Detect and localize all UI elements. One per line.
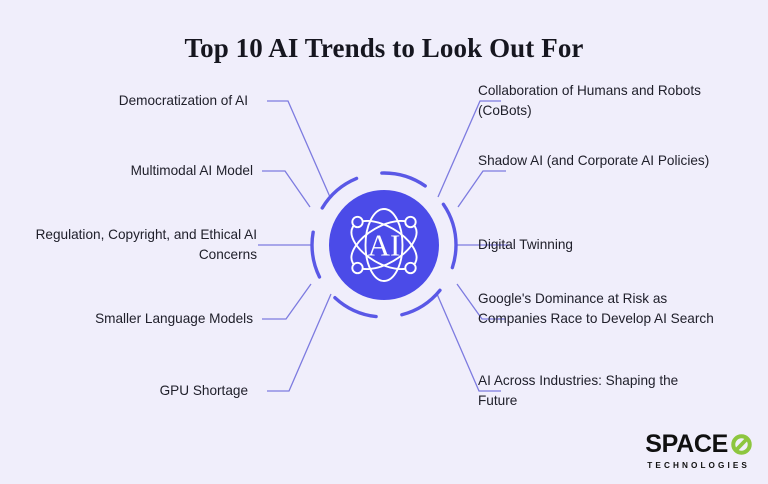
trend-label-left-2: Multimodal AI Model bbox=[23, 161, 253, 181]
logo-subtitle: TECHNOLOGIES bbox=[645, 461, 752, 470]
connector-left-2 bbox=[262, 171, 310, 207]
infographic-canvas: Top 10 AI Trends to Look Out For bbox=[0, 0, 768, 484]
trend-label-left-5: GPU Shortage bbox=[18, 381, 248, 401]
ai-atom-icon: AI bbox=[304, 165, 464, 325]
logo-word: SPACE bbox=[645, 432, 728, 457]
brand-logo: SPACE TECHNOLOGIES bbox=[645, 432, 752, 470]
trend-label-right-4: Google's Dominance at Risk as Companies … bbox=[478, 289, 730, 329]
trend-label-right-2: Shadow AI (and Corporate AI Policies) bbox=[478, 151, 718, 171]
connector-right-2 bbox=[458, 171, 506, 207]
trend-label-right-3: Digital Twinning bbox=[478, 235, 718, 255]
trend-label-left-1: Democratization of AI bbox=[18, 91, 248, 111]
trend-label-right-1: Collaboration of Humans and Robots (CoBo… bbox=[478, 81, 718, 121]
slashed-circle-icon bbox=[731, 434, 752, 455]
hub-label: AI bbox=[368, 228, 401, 263]
trend-label-left-3: Regulation, Copyright, and Ethical AI Co… bbox=[27, 225, 257, 265]
trend-label-right-5: AI Across Industries: Shaping the Future bbox=[478, 371, 718, 411]
logo-wordmark: SPACE bbox=[645, 432, 752, 457]
trend-label-left-4: Smaller Language Models bbox=[23, 309, 253, 329]
page-title: Top 10 AI Trends to Look Out For bbox=[0, 33, 768, 64]
